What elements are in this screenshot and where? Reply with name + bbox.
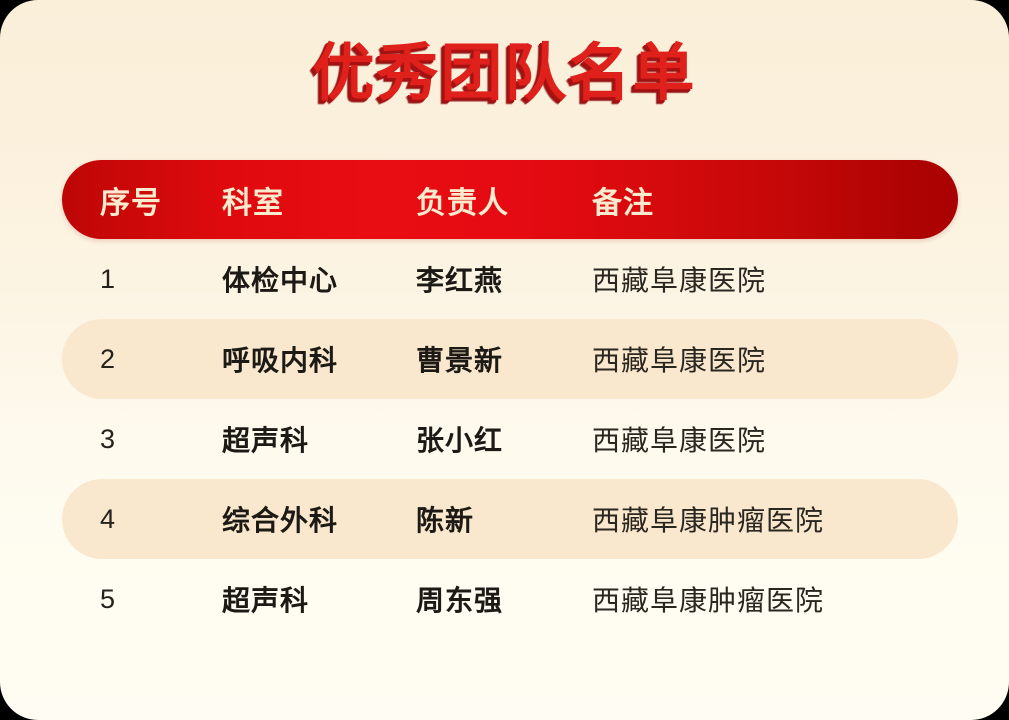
cell-department: 超声科: [204, 419, 416, 459]
cell-leader: 李红燕: [416, 259, 592, 299]
table-row: 1 体检中心 李红燕 西藏阜康医院: [62, 239, 958, 319]
cell-index: 3: [62, 424, 204, 455]
table-row: 5 超声科 周东强 西藏阜康肿瘤医院: [62, 559, 958, 639]
cell-note: 西藏阜康肿瘤医院: [592, 499, 958, 539]
table-row: 2 呼吸内科 曹景新 西藏阜康医院: [62, 319, 958, 399]
cell-department: 综合外科: [204, 499, 416, 539]
poster-card: 优秀团队名单 序号 科室 负责人 备注 1 体检中心 李红燕 西藏阜康医院 2 …: [0, 0, 1009, 720]
cell-index: 4: [62, 504, 204, 535]
excellent-team-table: 序号 科室 负责人 备注 1 体检中心 李红燕 西藏阜康医院 2 呼吸内科 曹景…: [62, 160, 958, 639]
table-row: 3 超声科 张小红 西藏阜康医院: [62, 399, 958, 479]
cell-note: 西藏阜康肿瘤医院: [592, 579, 958, 619]
cell-leader: 曹景新: [416, 339, 592, 379]
cell-index: 5: [62, 584, 204, 615]
cell-leader: 周东强: [416, 579, 592, 619]
table-row: 4 综合外科 陈新 西藏阜康肿瘤医院: [62, 479, 958, 559]
column-header-department: 科室: [204, 178, 416, 222]
cell-note: 西藏阜康医院: [592, 419, 958, 459]
column-header-note: 备注: [592, 178, 958, 222]
cell-department: 呼吸内科: [204, 339, 416, 379]
cell-leader: 陈新: [416, 499, 592, 539]
table-header-row: 序号 科室 负责人 备注: [62, 160, 958, 239]
column-header-leader: 负责人: [416, 178, 592, 222]
cell-index: 1: [62, 264, 204, 295]
cell-note: 西藏阜康医院: [592, 339, 958, 379]
column-header-index: 序号: [62, 178, 204, 222]
cell-note: 西藏阜康医院: [592, 259, 958, 299]
page-title: 优秀团队名单: [312, 38, 696, 110]
cell-index: 2: [62, 344, 204, 375]
cell-department: 超声科: [204, 579, 416, 619]
cell-leader: 张小红: [416, 419, 592, 459]
title-container: 优秀团队名单: [0, 38, 1009, 110]
cell-department: 体检中心: [204, 259, 416, 299]
